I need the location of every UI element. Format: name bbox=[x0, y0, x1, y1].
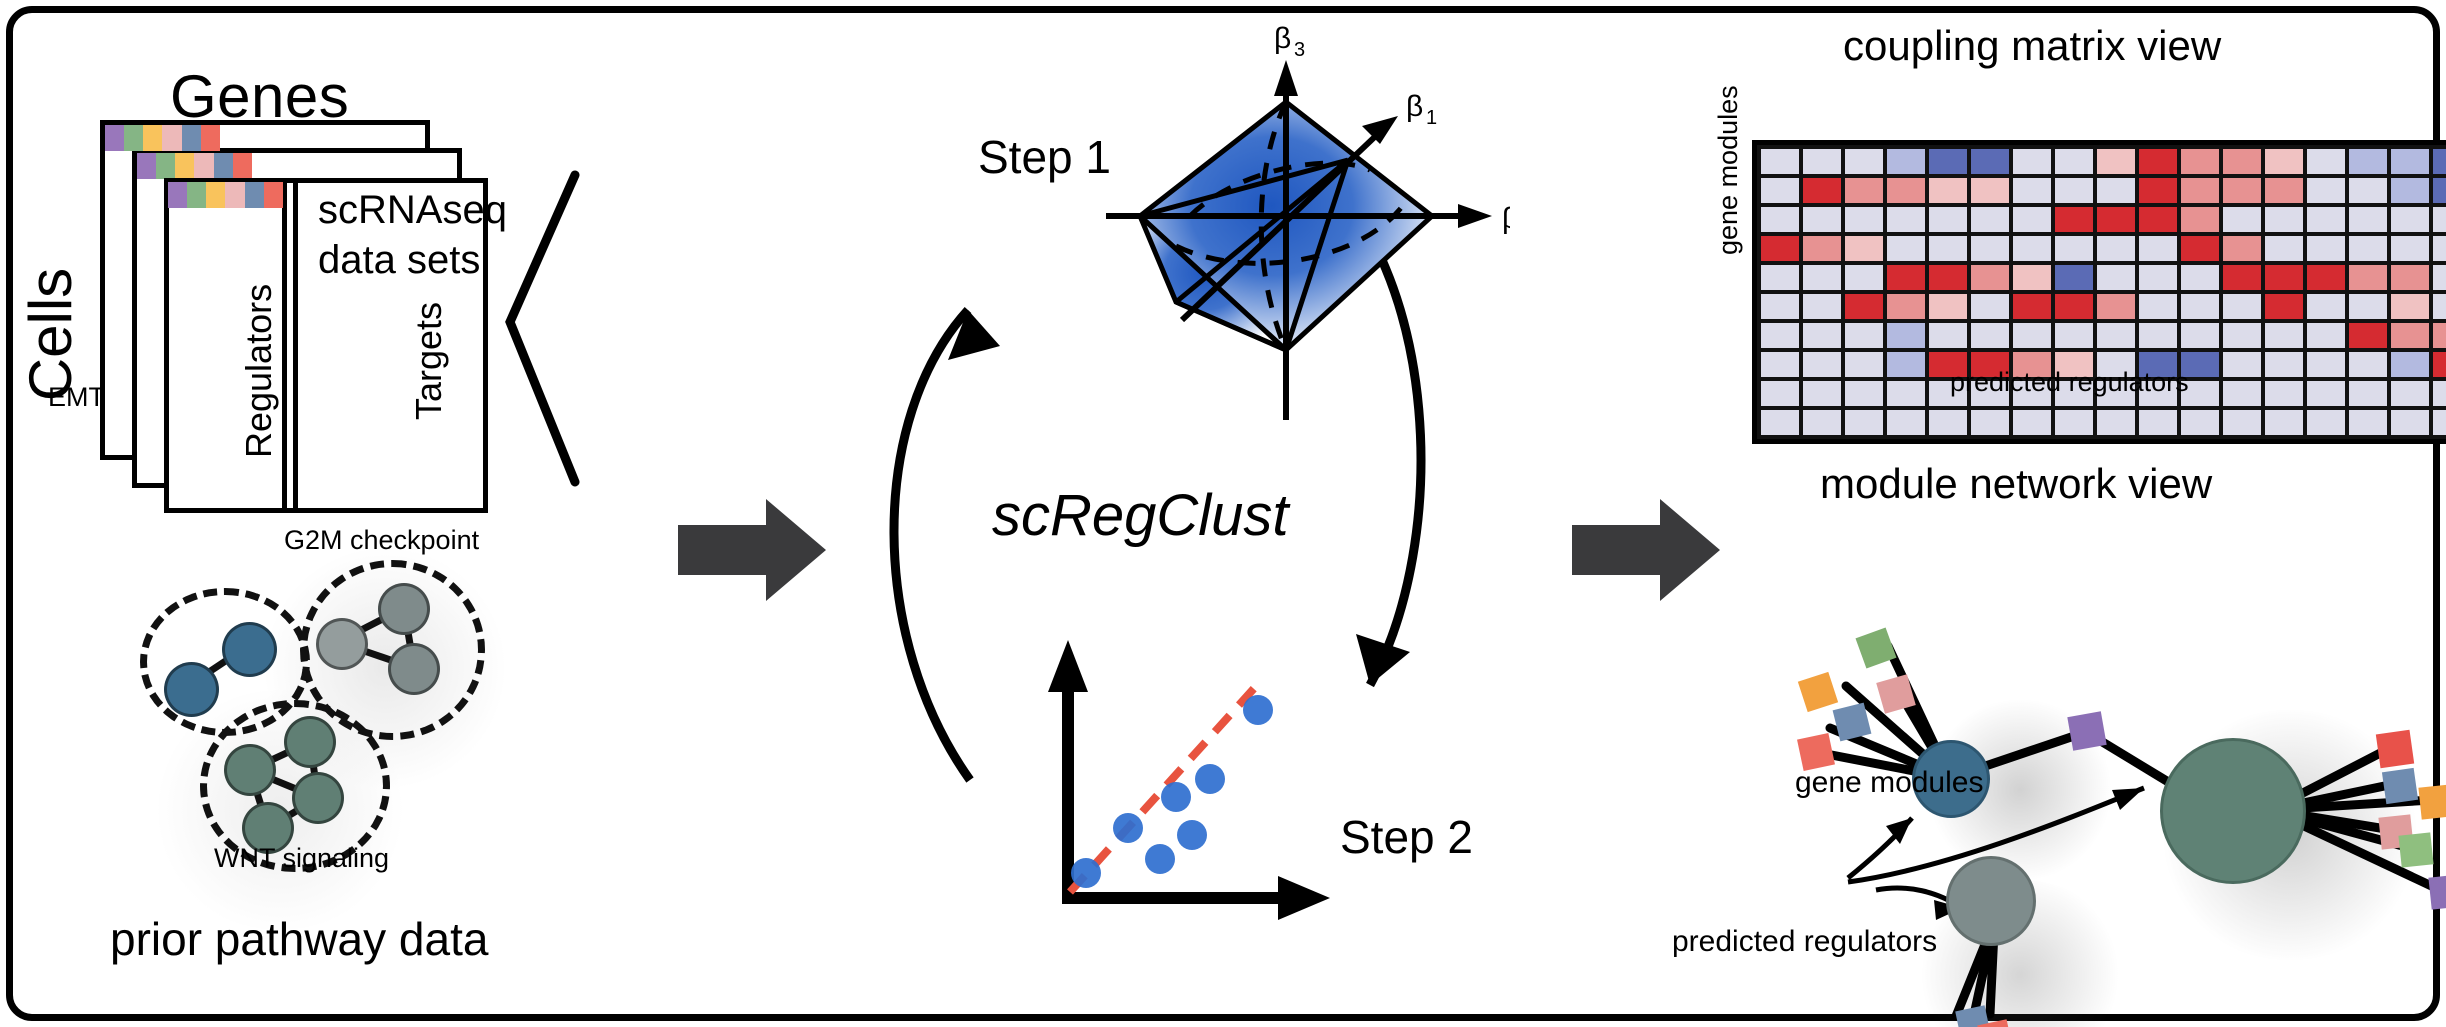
heatmap-cell[interactable] bbox=[2265, 381, 2303, 406]
heatmap-cell[interactable] bbox=[2307, 410, 2345, 435]
gene-node-g2m-3[interactable] bbox=[388, 643, 440, 695]
heatmap-cell[interactable] bbox=[1761, 410, 1799, 435]
heatmap-cell[interactable] bbox=[1845, 294, 1883, 319]
heatmap-cell[interactable] bbox=[2391, 236, 2429, 261]
g2m-cluster-label: G2M checkpoint bbox=[284, 525, 479, 556]
heatmap-cell[interactable] bbox=[2265, 149, 2303, 174]
step2-scatter-plot bbox=[1020, 630, 1360, 930]
heatmap-cell[interactable] bbox=[1929, 410, 1967, 435]
heatmap-cell[interactable] bbox=[2223, 323, 2261, 348]
wnt-cluster-label: WNT signaling bbox=[214, 843, 389, 874]
heatmap-cell[interactable] bbox=[2223, 236, 2261, 261]
scregclust-cycle: Step 1 bbox=[860, 20, 1560, 920]
heatmap-cell[interactable] bbox=[2433, 381, 2446, 406]
heatmap-cell[interactable] bbox=[2307, 352, 2345, 377]
heatmap-cell[interactable] bbox=[1845, 323, 1883, 348]
heatmap-cell[interactable] bbox=[1761, 178, 1799, 203]
figure-canvas: Genes Cells Regulators Targets scRNAseq … bbox=[0, 0, 2446, 1027]
heatmap-cell[interactable] bbox=[2391, 178, 2429, 203]
heatmap-cell[interactable] bbox=[1887, 149, 1925, 174]
heatmap-cell[interactable] bbox=[1929, 178, 1967, 203]
heatmap-cell[interactable] bbox=[2139, 265, 2177, 290]
heatmap-cell[interactable] bbox=[2055, 178, 2093, 203]
heatmap-cell[interactable] bbox=[2349, 236, 2387, 261]
heatmap-cell[interactable] bbox=[1761, 265, 1799, 290]
svg-text:1: 1 bbox=[1426, 107, 1437, 129]
heatmap-cell[interactable] bbox=[1803, 352, 1841, 377]
heatmap-cell[interactable] bbox=[2391, 323, 2429, 348]
heatmap-cell[interactable] bbox=[1761, 352, 1799, 377]
heatmap-cell[interactable] bbox=[2097, 207, 2135, 232]
heatmap-cell[interactable] bbox=[1929, 265, 1967, 290]
heatmap-cell[interactable] bbox=[1929, 207, 1967, 232]
heatmap-cell[interactable] bbox=[1971, 207, 2009, 232]
heatmap-cell[interactable] bbox=[2307, 381, 2345, 406]
heatmap-cell[interactable] bbox=[2097, 178, 2135, 203]
heatmap-cell[interactable] bbox=[1887, 236, 1925, 261]
emt-cluster-label: EMT bbox=[48, 382, 105, 413]
heatmap-cell[interactable] bbox=[2013, 207, 2051, 232]
heatmap-cell[interactable] bbox=[2139, 207, 2177, 232]
gene-node-wnt-3[interactable] bbox=[292, 772, 344, 824]
heatmap-cell[interactable] bbox=[1761, 381, 1799, 406]
heatmap-cell[interactable] bbox=[2391, 410, 2429, 435]
regulator-node-green-2[interactable] bbox=[2398, 832, 2433, 867]
heatmap-cell[interactable] bbox=[2265, 207, 2303, 232]
heatmap-cell[interactable] bbox=[1761, 323, 1799, 348]
prior-pathway-diagram: EMT G2M checkpoint WNT signaling prior p… bbox=[0, 0, 560, 960]
heatmap-cell[interactable] bbox=[1845, 178, 1883, 203]
heatmap-cell[interactable] bbox=[1845, 381, 1883, 406]
heatmap-cell[interactable] bbox=[1761, 207, 1799, 232]
heatmap-cell[interactable] bbox=[2097, 410, 2135, 435]
heatmap-cell[interactable] bbox=[2181, 207, 2219, 232]
module-node-green[interactable] bbox=[2160, 738, 2306, 884]
heatmap-cell[interactable] bbox=[2223, 178, 2261, 203]
heatmap-cell[interactable] bbox=[1929, 236, 1967, 261]
heatmap-cell[interactable] bbox=[2349, 265, 2387, 290]
heatmap-cell[interactable] bbox=[2181, 265, 2219, 290]
heatmap-cell[interactable] bbox=[1971, 323, 2009, 348]
gene-node-g2m-2[interactable] bbox=[378, 583, 430, 635]
heatmap-cell[interactable] bbox=[2013, 236, 2051, 261]
heatmap-cell[interactable] bbox=[1971, 410, 2009, 435]
heatmap-cell[interactable] bbox=[1845, 149, 1883, 174]
heatmap-cell[interactable] bbox=[1803, 178, 1841, 203]
flow-arrow-1-icon bbox=[678, 497, 828, 607]
heatmap-cell[interactable] bbox=[2139, 323, 2177, 348]
heatmap-cell[interactable] bbox=[2097, 265, 2135, 290]
heatmap-cell[interactable] bbox=[2013, 178, 2051, 203]
heatmap-cell[interactable] bbox=[2265, 352, 2303, 377]
heatmap-cell[interactable] bbox=[2181, 178, 2219, 203]
heatmap-cell[interactable] bbox=[2349, 207, 2387, 232]
heatmap-cell[interactable] bbox=[1887, 352, 1925, 377]
heatmap-cell[interactable] bbox=[2013, 149, 2051, 174]
heatmap-cell[interactable] bbox=[2097, 236, 2135, 261]
heatmap-cell[interactable] bbox=[2307, 294, 2345, 319]
heatmap-cell[interactable] bbox=[2265, 178, 2303, 203]
heatmap-cell[interactable] bbox=[2139, 294, 2177, 319]
heatmap-cell[interactable] bbox=[1971, 149, 2009, 174]
heatmap-cell[interactable] bbox=[1971, 178, 2009, 203]
prior-pathway-caption: prior pathway data bbox=[110, 912, 488, 966]
heatmap-cell[interactable] bbox=[2391, 294, 2429, 319]
heatmap-cell[interactable] bbox=[2055, 236, 2093, 261]
heatmap-cell[interactable] bbox=[1929, 294, 1967, 319]
heatmap-cell[interactable] bbox=[2139, 178, 2177, 203]
heatmap-cell[interactable] bbox=[1803, 410, 1841, 435]
heatmap-cell[interactable] bbox=[1929, 323, 1967, 348]
heatmap-cell[interactable] bbox=[2433, 207, 2446, 232]
heatmap-cell[interactable] bbox=[1971, 265, 2009, 290]
heatmap-cell[interactable] bbox=[2055, 265, 2093, 290]
heatmap-cell[interactable] bbox=[2433, 265, 2446, 290]
heatmap-cell[interactable] bbox=[2265, 323, 2303, 348]
gene-node-wnt-1[interactable] bbox=[224, 744, 276, 796]
heatmap-cell[interactable] bbox=[2223, 294, 2261, 319]
coupling-matrix-ylabel: gene modules bbox=[1713, 85, 1744, 255]
heatmap-cell[interactable] bbox=[2349, 381, 2387, 406]
heatmap-cell[interactable] bbox=[1803, 323, 1841, 348]
heatmap-cell[interactable] bbox=[2349, 149, 2387, 174]
heatmap-cell[interactable] bbox=[2223, 352, 2261, 377]
gene-node-emt-2[interactable] bbox=[222, 622, 277, 677]
heatmap-cell[interactable] bbox=[2349, 352, 2387, 377]
heatmap-cell[interactable] bbox=[1803, 294, 1841, 319]
gene-node-wnt-2[interactable] bbox=[284, 716, 336, 768]
heatmap-cell[interactable] bbox=[1887, 294, 1925, 319]
heatmap-cell[interactable] bbox=[2097, 294, 2135, 319]
heatmap-cell[interactable] bbox=[2097, 323, 2135, 348]
heatmap-cell[interactable] bbox=[2307, 323, 2345, 348]
heatmap-cell[interactable] bbox=[2223, 207, 2261, 232]
heatmap-cell[interactable] bbox=[2265, 236, 2303, 261]
heatmap-cell[interactable] bbox=[1845, 236, 1883, 261]
heatmap-cell[interactable] bbox=[2055, 207, 2093, 232]
regulator-node-purple-bridge[interactable] bbox=[2067, 711, 2106, 750]
heatmap-cell[interactable] bbox=[1845, 207, 1883, 232]
heatmap-cell[interactable] bbox=[1761, 149, 1799, 174]
svg-text:β: β bbox=[1406, 90, 1423, 123]
algorithm-name-label: scRegClust bbox=[992, 482, 1289, 549]
heatmap-cell[interactable] bbox=[2307, 265, 2345, 290]
heatmap-cell[interactable] bbox=[1887, 178, 1925, 203]
heatmap-cell[interactable] bbox=[2349, 178, 2387, 203]
svg-text:β: β bbox=[1502, 202, 1510, 235]
heatmap-cell[interactable] bbox=[1845, 352, 1883, 377]
heatmap-cell[interactable] bbox=[1887, 410, 1925, 435]
heatmap-cell[interactable] bbox=[1803, 265, 1841, 290]
heatmap-cell[interactable] bbox=[2307, 207, 2345, 232]
heatmap-cell[interactable] bbox=[1887, 381, 1925, 406]
heatmap-cell[interactable] bbox=[1803, 381, 1841, 406]
heatmap-cell[interactable] bbox=[2055, 410, 2093, 435]
heatmap-cell[interactable] bbox=[2391, 381, 2429, 406]
heatmap-cell[interactable] bbox=[1887, 265, 1925, 290]
heatmap-cell[interactable] bbox=[2223, 381, 2261, 406]
heatmap-cell[interactable] bbox=[1761, 294, 1799, 319]
heatmap-cell[interactable] bbox=[2097, 149, 2135, 174]
heatmap-cell[interactable] bbox=[1887, 323, 1925, 348]
heatmap-cell[interactable] bbox=[2181, 410, 2219, 435]
heatmap-cell[interactable] bbox=[1845, 410, 1883, 435]
heatmap-cell[interactable] bbox=[2223, 410, 2261, 435]
gene-modules-annotation: gene modules bbox=[1795, 766, 1983, 800]
coupling-matrix-xlabel: predicted regulators bbox=[1950, 367, 2189, 398]
coupling-matrix-heatmap[interactable] bbox=[1752, 140, 2446, 444]
heatmap-cell[interactable] bbox=[2433, 178, 2446, 203]
heatmap-cell[interactable] bbox=[2013, 294, 2051, 319]
heatmap-cell[interactable] bbox=[1971, 294, 2009, 319]
heatmap-cell[interactable] bbox=[1803, 149, 1841, 174]
heatmap-cell[interactable] bbox=[2013, 323, 2051, 348]
step2-label: Step 2 bbox=[1340, 810, 1473, 864]
heatmap-cell[interactable] bbox=[1887, 207, 1925, 232]
heatmap-cell[interactable] bbox=[1803, 236, 1841, 261]
heatmap-cell[interactable] bbox=[2181, 236, 2219, 261]
heatmap-cell[interactable] bbox=[2055, 149, 2093, 174]
heatmap-cell[interactable] bbox=[2433, 236, 2446, 261]
heatmap-cell[interactable] bbox=[2223, 265, 2261, 290]
heatmap-cell[interactable] bbox=[2181, 323, 2219, 348]
heatmap-cell[interactable] bbox=[2265, 410, 2303, 435]
heatmap-cell[interactable] bbox=[2265, 265, 2303, 290]
svg-text:β: β bbox=[1274, 22, 1291, 55]
regulator-node-orange-2[interactable] bbox=[2418, 784, 2446, 819]
heatmap-cell[interactable] bbox=[2433, 149, 2446, 174]
heatmap-cell[interactable] bbox=[2433, 323, 2446, 348]
svg-text:3: 3 bbox=[1294, 39, 1305, 61]
heatmap-cell[interactable] bbox=[2391, 149, 2429, 174]
heatmap-cell[interactable] bbox=[2349, 410, 2387, 435]
heatmap-cell[interactable] bbox=[1971, 236, 2009, 261]
heatmap-cell[interactable] bbox=[2055, 294, 2093, 319]
heatmap-cell[interactable] bbox=[1761, 236, 1799, 261]
heatmap-cell[interactable] bbox=[2349, 294, 2387, 319]
regulator-node-blue-2[interactable] bbox=[2382, 768, 2418, 804]
heatmap-cell[interactable] bbox=[2391, 352, 2429, 377]
heatmap-cell[interactable] bbox=[2013, 410, 2051, 435]
module-node-gray[interactable] bbox=[1946, 856, 2036, 946]
heatmap-cell[interactable] bbox=[1803, 207, 1841, 232]
heatmap-cell[interactable] bbox=[2433, 352, 2446, 377]
heatmap-cell[interactable] bbox=[2223, 149, 2261, 174]
heatmap-cell[interactable] bbox=[2181, 294, 2219, 319]
heatmap-cell[interactable] bbox=[2307, 178, 2345, 203]
regulator-node-purple-2[interactable] bbox=[2428, 874, 2446, 909]
coupling-matrix-title: coupling matrix view bbox=[1843, 22, 2221, 70]
heatmap-cell[interactable] bbox=[2013, 265, 2051, 290]
heatmap-cell[interactable] bbox=[2139, 410, 2177, 435]
heatmap-cell[interactable] bbox=[2391, 265, 2429, 290]
heatmap-cell[interactable] bbox=[2265, 294, 2303, 319]
heatmap-cell[interactable] bbox=[2139, 149, 2177, 174]
heatmap-cell[interactable] bbox=[2055, 323, 2093, 348]
heatmap-cell[interactable] bbox=[2433, 294, 2446, 319]
regulator-node-red-2[interactable] bbox=[2376, 730, 2414, 768]
heatmap-cell[interactable] bbox=[1929, 149, 1967, 174]
heatmap-cell[interactable] bbox=[2349, 323, 2387, 348]
gene-node-g2m-1[interactable] bbox=[316, 618, 368, 670]
heatmap-cell[interactable] bbox=[1845, 265, 1883, 290]
heatmap-cell[interactable] bbox=[2139, 236, 2177, 261]
heatmap-cell[interactable] bbox=[2307, 149, 2345, 174]
step1-octahedron-diagram: β 3 β 1 β 2 bbox=[1040, 20, 1510, 440]
heatmap-cell[interactable] bbox=[2433, 410, 2446, 435]
heatmap-cell[interactable] bbox=[2181, 149, 2219, 174]
heatmap-cell[interactable] bbox=[2391, 207, 2429, 232]
heatmap-cell[interactable] bbox=[2307, 236, 2345, 261]
predicted-regulators-annotation: predicted regulators bbox=[1672, 925, 1937, 959]
